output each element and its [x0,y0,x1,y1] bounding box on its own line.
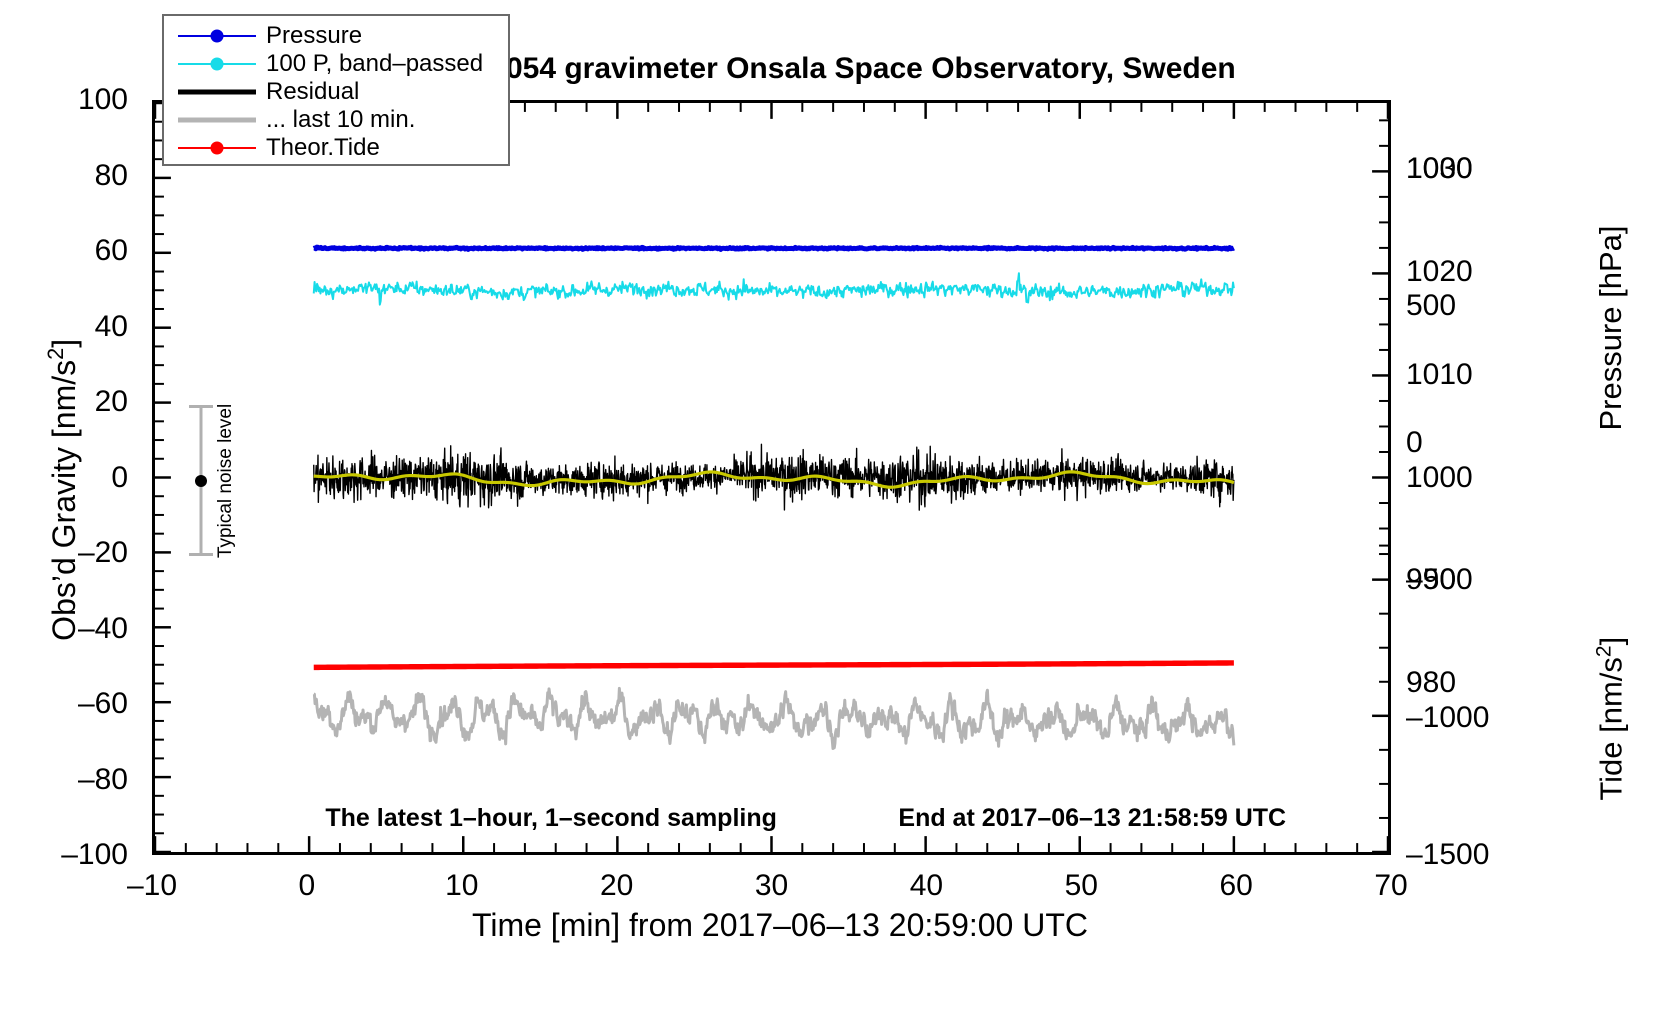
legend-item-label: Pressure [266,22,362,50]
axis-tick-label: –100 [0,838,128,872]
axis-tick-label: 40 [0,310,128,344]
axis-tick-label: 0 [0,461,128,495]
axis-tick-label: 20 [600,869,633,903]
y-axis-title-tide-text: Tide [nm/s [1594,657,1629,801]
legend-item-label: Residual [266,78,359,106]
x-axis-title: Time [min] from 2017–06–13 20:59:00 UTC [0,907,1560,944]
axis-tick-label: –500 [1406,563,1473,597]
legend-marker-dot-icon [211,142,224,155]
axis-tick-label: 60 [1219,869,1252,903]
y-axis-title-left-exponent: 2 [43,348,68,360]
data-traces [155,103,1388,852]
axis-tick-label: 70 [1374,869,1407,903]
axis-tick-label: 50 [1065,869,1098,903]
series-last-10-min [314,688,1234,748]
axis-tick-label: 80 [0,159,128,193]
legend-line [178,118,256,123]
typical-noise-level-bar [187,405,215,556]
axis-tick-label: 1000 [1406,152,1473,186]
legend-marker-dot-icon [211,58,224,71]
chart-root: SCG_054 gravimeter Onsala Space Observat… [0,0,1660,1020]
legend-swatch-icon [178,108,256,132]
end-time-note: End at 2017–06–13 21:58:59 UTC [898,804,1286,833]
series-band-passed [314,273,1234,304]
legend-item-100-p-band-passed[interactable]: 100 P, band–passed [178,50,508,78]
legend-item-pressure[interactable]: Pressure [178,22,508,50]
axis-tick-label: –80 [0,763,128,797]
legend-swatch-icon [178,24,256,48]
legend-item-label: ... last 10 min. [266,106,415,134]
sampling-note: The latest 1–hour, 1–second sampling [325,804,777,833]
y-axis-title-tide: Tide [nm/s2] [1592,449,1629,989]
axis-tick-label: 20 [0,385,128,419]
axis-tick-label: –10 [127,869,177,903]
series-theor-tide [314,663,1234,667]
plot-area: Typical noise level The latest 1–hour, 1… [152,100,1391,855]
legend-item-last-10-min[interactable]: ... last 10 min. [178,106,508,134]
axis-tick-label: 30 [755,869,788,903]
axis-tick-label: 1000 [1406,461,1473,495]
series-pressure [314,247,1234,249]
series-group [314,247,1234,748]
axis-tick-label: 500 [1406,289,1456,323]
axis-tick-label: –20 [0,536,128,570]
legend-swatch-icon [178,136,256,160]
axis-tick-label: –1500 [1406,838,1489,872]
typical-noise-level-label: Typical noise level [215,404,237,558]
axis-tick-label: 1020 [1406,255,1473,289]
noise-bar-center-dot [195,475,207,487]
legend-line [178,90,256,95]
axis-tick-label: –1000 [1406,701,1489,735]
axis-tick-label: 100 [0,83,128,117]
axis-tick-label: –40 [0,612,128,646]
legend-item-label: 100 P, band–passed [266,50,483,78]
y-axis-title-tide-exponent: 2 [1592,645,1615,657]
axis-tick-label: 40 [910,869,943,903]
axis-tick-label: 0 [1406,426,1423,460]
axis-tick-label: 10 [445,869,478,903]
legend-item-residual[interactable]: Residual [178,78,508,106]
legend-marker-dot-icon [211,30,224,43]
noise-bar-cap-top [189,405,213,408]
y-axis-title-tide-bracket: ] [1594,637,1629,646]
axis-tick-label: 60 [0,234,128,268]
axis-tick-label: 1010 [1406,358,1473,392]
legend-swatch-icon [178,80,256,104]
axis-tick-label: –60 [0,687,128,721]
legend-item-theor-tide[interactable]: Theor.Tide [178,134,508,162]
noise-bar-cap-bottom [189,553,213,556]
chart-legend[interactable]: Pressure100 P, band–passedResidual... la… [162,14,510,166]
legend-swatch-icon [178,52,256,76]
axis-tick-label: 0 [299,869,316,903]
legend-item-label: Theor.Tide [266,134,380,162]
axis-tick-label: 980 [1406,666,1456,700]
